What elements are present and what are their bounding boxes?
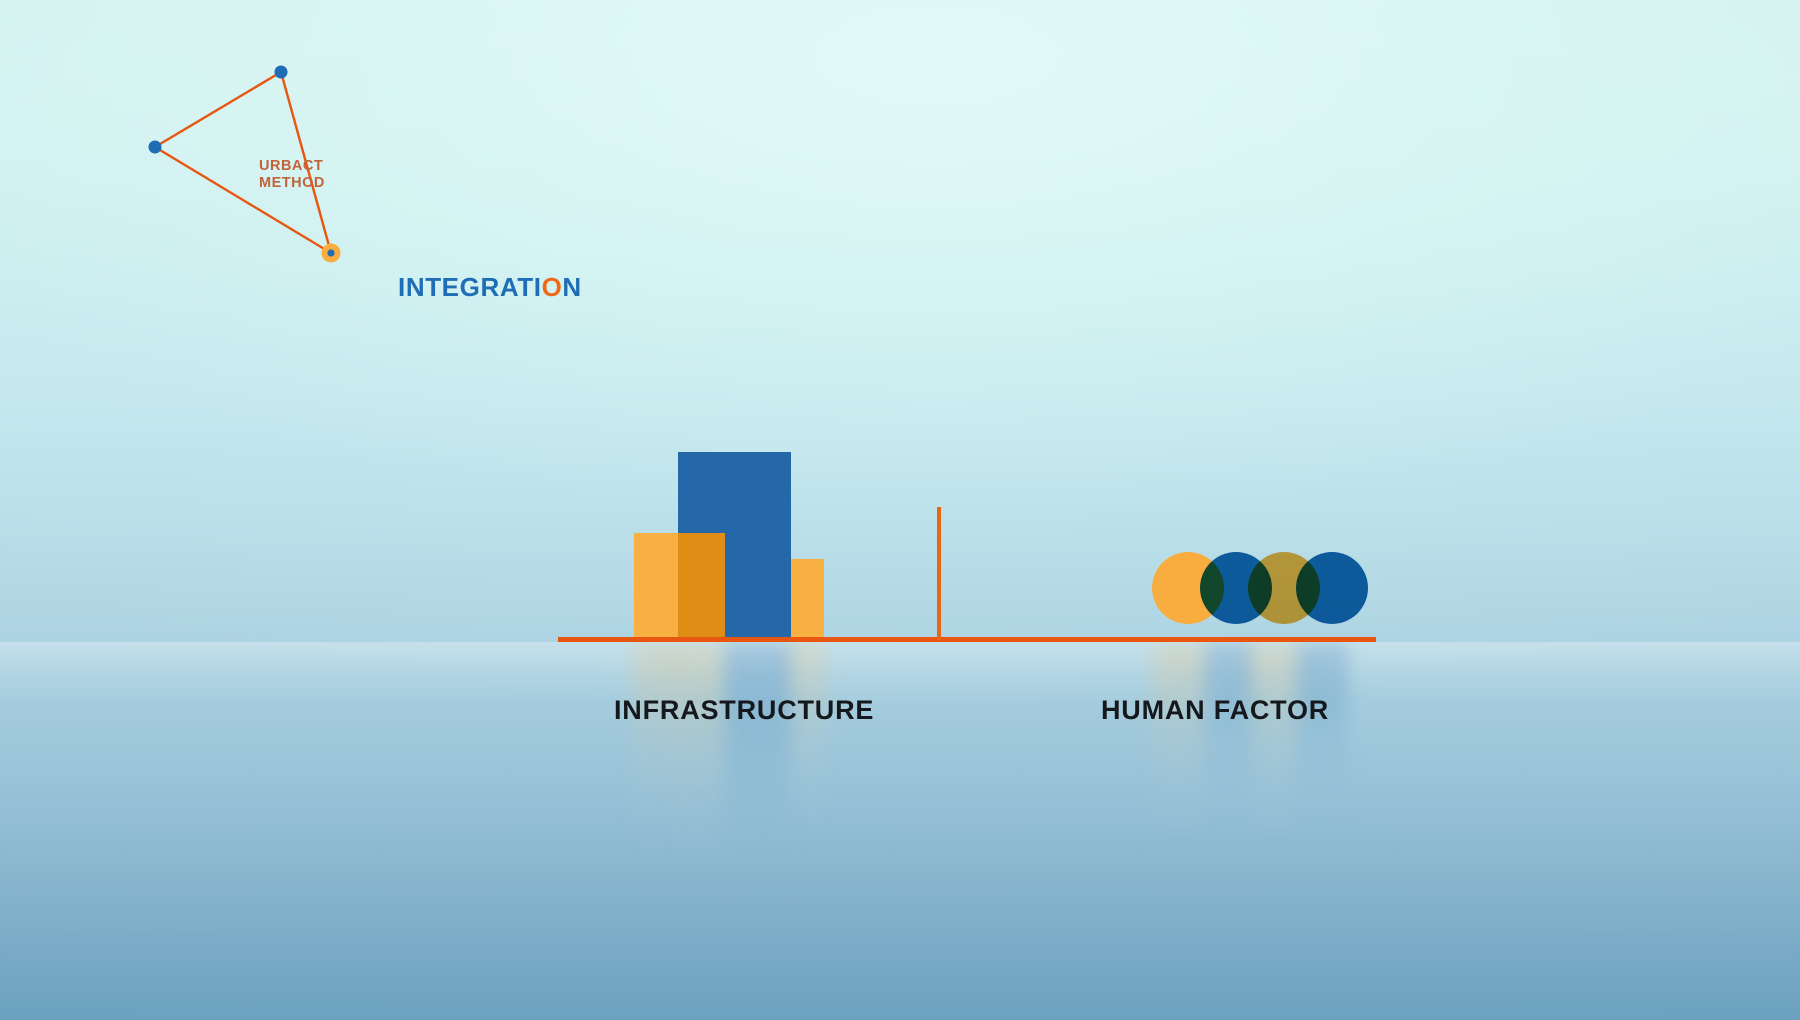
slide-canvas: URBACT METHOD INTEGRATION INFRASTRUCTURE… bbox=[0, 0, 1800, 1020]
circle-4-blue bbox=[1296, 552, 1368, 624]
human-factor-circle-group bbox=[1152, 552, 1342, 624]
background-vignette bbox=[0, 0, 1800, 1020]
